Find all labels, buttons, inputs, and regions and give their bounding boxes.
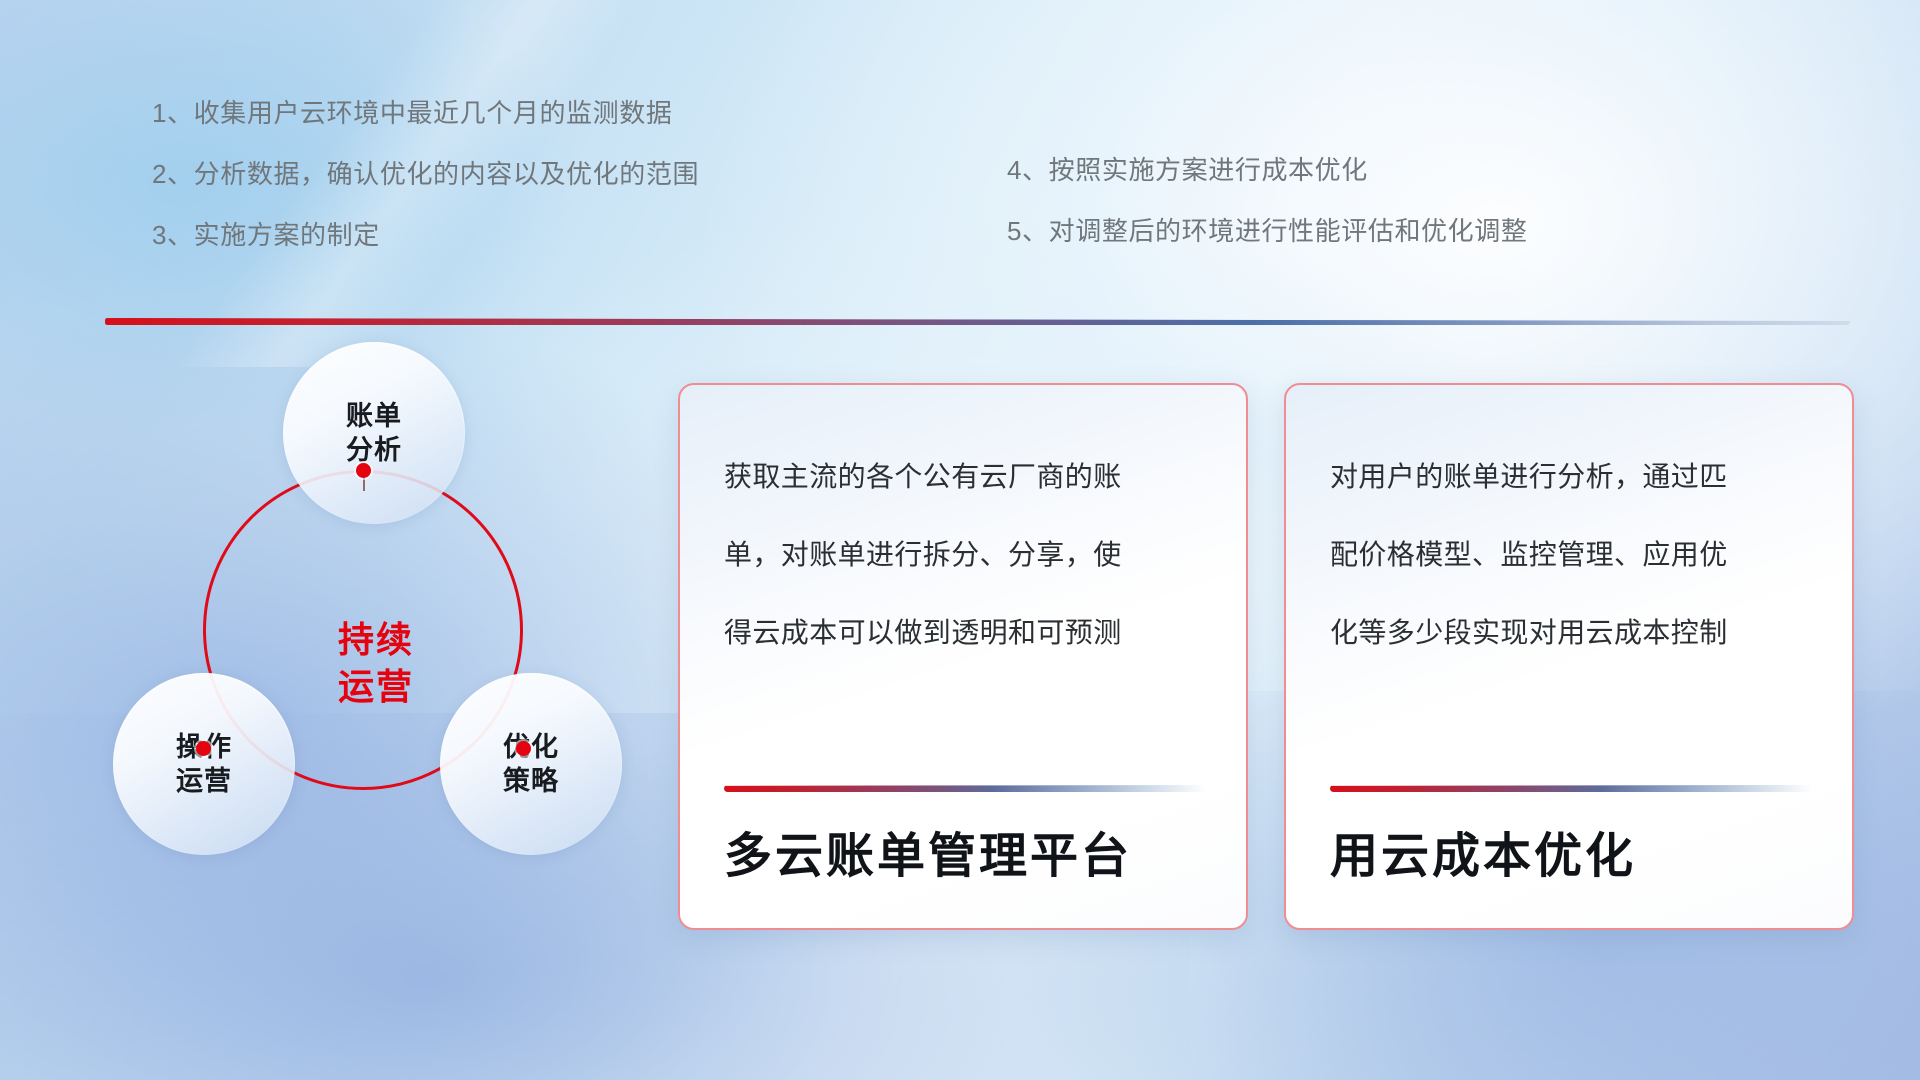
feature-card-cloud-cost-optimization[interactable]: 对用户的账单进行分析，通过匹 配价格模型、监控管理、应用优 化等多少段实现对用云… [1284,383,1854,930]
venn-bubble-label: 账单 分析 [346,399,402,467]
venn-diagram: 账单 分析 操作 运营 优化 策略 持续 运营 [95,345,615,945]
card-body-line: 获取主流的各个公有云厂商的账 [724,463,1206,491]
card-body-line: 得云成本可以做到透明和可预测 [724,619,1206,647]
step-item-3: 3、实施方案的制定 [152,222,699,248]
card-body-line: 配价格模型、监控管理、应用优 [1330,541,1812,569]
step-item-1: 1、收集用户云环境中最近几个月的监测数据 [152,100,699,126]
venn-node-dot-top [356,463,371,478]
venn-connector-stem [363,477,365,491]
step-item-4: 4、按照实施方案进行成本优化 [1007,157,1527,183]
step-item-5: 5、对调整后的环境进行性能评估和优化调整 [1007,218,1527,244]
card-title: 用云成本优化 [1330,816,1636,886]
venn-center-label: 持续 运营 [338,617,414,711]
venn-node-dot-right [516,741,531,756]
venn-node-dot-left [196,741,211,756]
card-body-line: 化等多少段实现对用云成本控制 [1330,619,1812,647]
step-item-2: 2、分析数据，确认优化的内容以及优化的范围 [152,161,699,187]
venn-center-label-wrap: 持续 运营 [203,470,523,790]
card-body-line: 单，对账单进行拆分、分享，使 [724,541,1206,569]
steps-list-left: 1、收集用户云环境中最近几个月的监测数据 2、分析数据，确认优化的内容以及优化的… [152,100,699,248]
feature-card-multicloud-billing[interactable]: 获取主流的各个公有云厂商的账 单，对账单进行拆分、分享，使 得云成本可以做到透明… [678,383,1248,930]
card-accent-rule [1330,785,1812,792]
card-body-text: 对用户的账单进行分析，通过匹 配价格模型、监控管理、应用优 化等多少段实现对用云… [1330,463,1812,697]
card-body-line: 对用户的账单进行分析，通过匹 [1330,463,1812,491]
card-accent-rule [724,785,1206,792]
card-title: 多云账单管理平台 [724,816,1132,886]
card-body-text: 获取主流的各个公有云厂商的账 单，对账单进行拆分、分享，使 得云成本可以做到透明… [724,463,1206,697]
steps-list-right: 4、按照实施方案进行成本优化 5、对调整后的环境进行性能评估和优化调整 [1007,157,1527,244]
